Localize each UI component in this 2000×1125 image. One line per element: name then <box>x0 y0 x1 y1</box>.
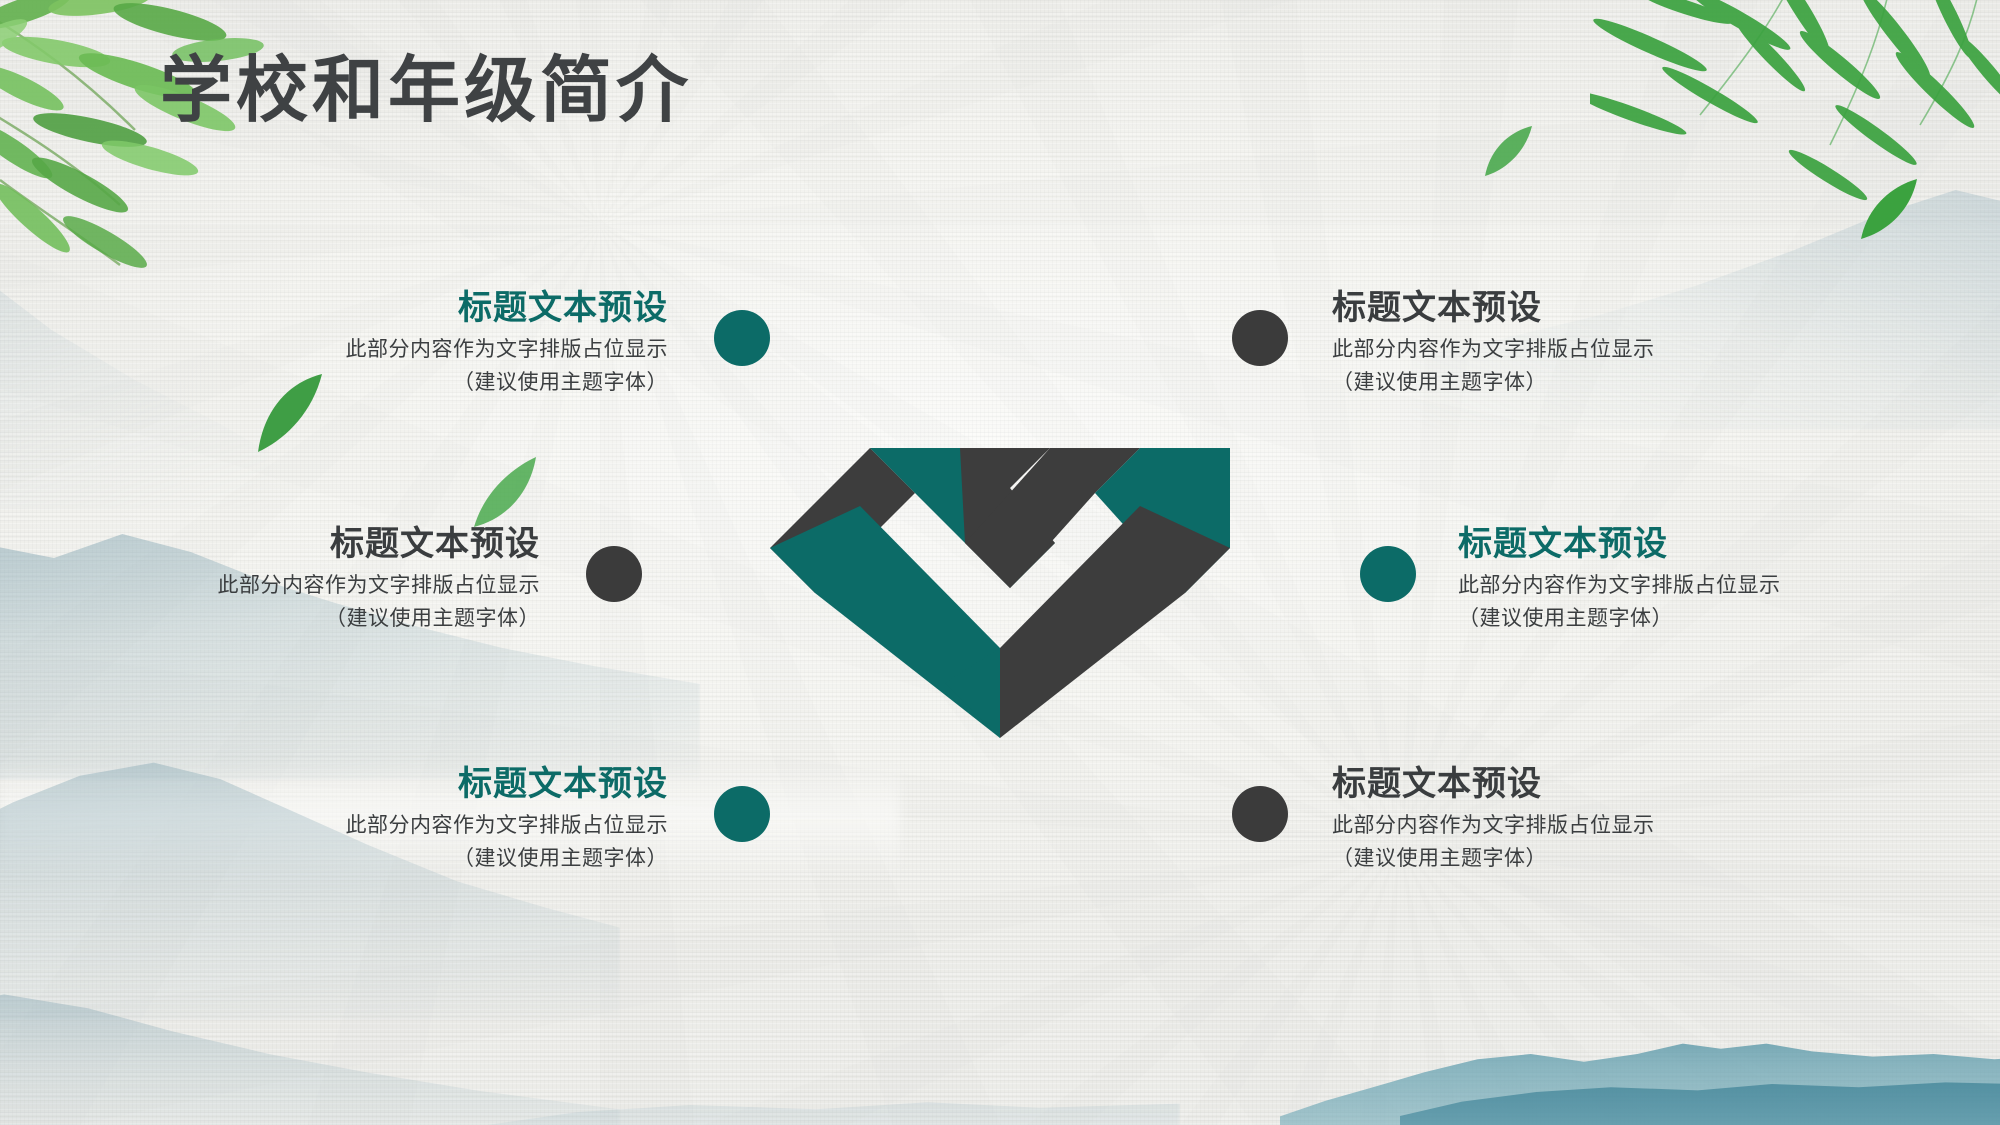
block-body: 此部分内容作为文字排版占位显示 <box>110 572 540 600</box>
leaf-icon <box>1855 175 1925 245</box>
block-title: 标题文本预设 <box>1332 764 1762 805</box>
willow-branch-icon <box>1590 0 2000 225</box>
block-note: （建议使用主题字体） <box>1332 845 1762 873</box>
leaf-icon <box>1480 122 1538 180</box>
text-block-right-top[interactable]: 标题文本预设 此部分内容作为文字排版占位显示 （建议使用主题字体） <box>1332 288 1762 397</box>
bullet-dot-left-top[interactable] <box>714 310 770 366</box>
block-note: （建议使用主题字体） <box>110 605 540 633</box>
block-body: 此部分内容作为文字排版占位显示 <box>1332 812 1762 840</box>
block-body: 此部分内容作为文字排版占位显示 <box>1458 572 1888 600</box>
page-title: 学校和年级简介 <box>160 50 692 133</box>
text-block-left-top[interactable]: 标题文本预设 此部分内容作为文字排版占位显示 （建议使用主题字体） <box>238 288 668 397</box>
slide-canvas: 学校和年级简介 标题文本预设 此部分内容作为文字排版占位显示 <box>0 0 2000 1125</box>
block-note: （建议使用主题字体） <box>1332 369 1762 397</box>
block-title: 标题文本预设 <box>1458 524 1888 565</box>
leaf-icon <box>470 455 542 535</box>
bullet-dot-right-top[interactable] <box>1232 310 1288 366</box>
text-block-left-middle[interactable]: 标题文本预设 此部分内容作为文字排版占位显示 （建议使用主题字体） <box>110 524 540 633</box>
block-body: 此部分内容作为文字排版占位显示 <box>238 812 668 840</box>
block-title: 标题文本预设 <box>238 764 668 805</box>
block-note: （建议使用主题字体） <box>238 845 668 873</box>
block-body: 此部分内容作为文字排版占位显示 <box>238 336 668 364</box>
block-note: （建议使用主题字体） <box>1458 605 1888 633</box>
block-note: （建议使用主题字体） <box>238 369 668 397</box>
block-title: 标题文本预设 <box>110 524 540 565</box>
text-block-left-bottom[interactable]: 标题文本预设 此部分内容作为文字排版占位显示 （建议使用主题字体） <box>238 764 668 873</box>
block-title: 标题文本预设 <box>1332 288 1762 329</box>
bullet-dot-left-bottom[interactable] <box>714 786 770 842</box>
block-title: 标题文本预设 <box>238 288 668 329</box>
bullet-dot-left-middle[interactable] <box>586 546 642 602</box>
bullet-dot-right-bottom[interactable] <box>1232 786 1288 842</box>
text-block-right-bottom[interactable]: 标题文本预设 此部分内容作为文字排版占位显示 （建议使用主题字体） <box>1332 764 1762 873</box>
block-body: 此部分内容作为文字排版占位显示 <box>1332 336 1762 364</box>
bullet-dot-right-middle[interactable] <box>1360 546 1416 602</box>
bamboo-leaves-icon <box>0 0 310 280</box>
text-block-right-middle[interactable]: 标题文本预设 此部分内容作为文字排版占位显示 （建议使用主题字体） <box>1458 524 1888 633</box>
heart-ribbon-logo <box>770 448 1230 738</box>
